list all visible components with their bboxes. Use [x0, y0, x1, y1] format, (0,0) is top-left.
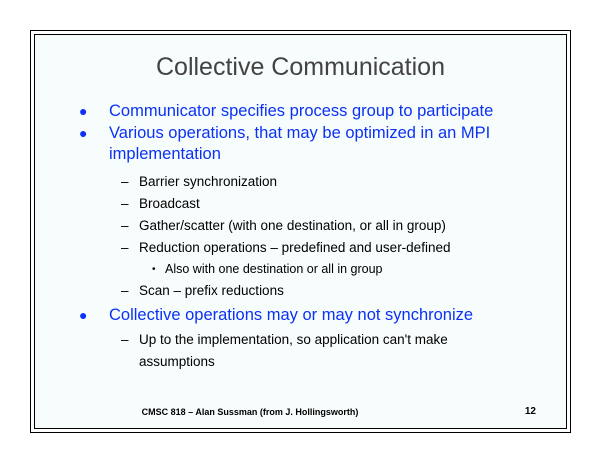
disc-bullet-icon: ● [79, 101, 93, 123]
dash-bullet-icon: – [121, 280, 135, 302]
bullet-text: Also with one destination or all in grou… [165, 262, 383, 276]
bullet-text: Broadcast [139, 196, 200, 211]
bullet-level2-item: – Reduction operations – predefined and … [35, 237, 566, 259]
bullet-text: Gather/scatter (with one destination, or… [139, 218, 446, 233]
slide-body: ● Communicator specifies process group t… [35, 101, 566, 394]
dash-bullet-icon: – [121, 215, 135, 237]
disc-bullet-icon: ● [79, 305, 93, 327]
bullet-level2-item: – Broadcast [35, 193, 566, 215]
slide-inner-frame: Collective Communication ● Communicator … [34, 34, 567, 429]
bullet-text: Scan – prefix reductions [139, 283, 284, 298]
disc-bullet-icon: ● [79, 123, 93, 145]
bullet-text: Barrier synchronization [139, 174, 277, 189]
dash-bullet-icon: – [121, 237, 135, 259]
bullet-level2-item: – Gather/scatter (with one destination, … [35, 215, 566, 237]
slide-footer: CMSC 818 – Alan Sussman (from J. Holling… [35, 404, 566, 420]
bullet-text: Reduction operations – predefined and us… [139, 240, 450, 255]
dash-bullet-icon: – [121, 193, 135, 215]
dash-bullet-icon: – [121, 329, 135, 351]
bullet-level1-item: ● Various operations, that may be optimi… [35, 123, 566, 166]
footer-credit-text: CMSC 818 – Alan Sussman (from J. Holling… [35, 404, 465, 420]
bullet-text: Collective operations may or may not syn… [109, 306, 473, 324]
page-number: 12 [525, 404, 536, 420]
bullet-level2-item: – Up to the implementation, so applicati… [35, 329, 566, 373]
bullet-level2-item: – Scan – prefix reductions [35, 280, 566, 302]
bullet-text: Up to the implementation, so application… [139, 332, 448, 369]
bullet-level3-item: • Also with one destination or all in gr… [35, 259, 566, 280]
bullet-level1-item: ● Collective operations may or may not s… [35, 305, 566, 327]
bullet-level2-item: – Barrier synchronization [35, 171, 566, 193]
bullet-level1-item: ● Communicator specifies process group t… [35, 101, 566, 123]
bullet-text: Communicator specifies process group to … [109, 102, 493, 120]
bullet-text: Various operations, that may be optimize… [109, 124, 490, 164]
dot-bullet-icon: • [152, 259, 164, 280]
slide-outer-frame: Collective Communication ● Communicator … [30, 30, 571, 433]
dash-bullet-icon: – [121, 171, 135, 193]
slide-title: Collective Communication [35, 53, 566, 81]
